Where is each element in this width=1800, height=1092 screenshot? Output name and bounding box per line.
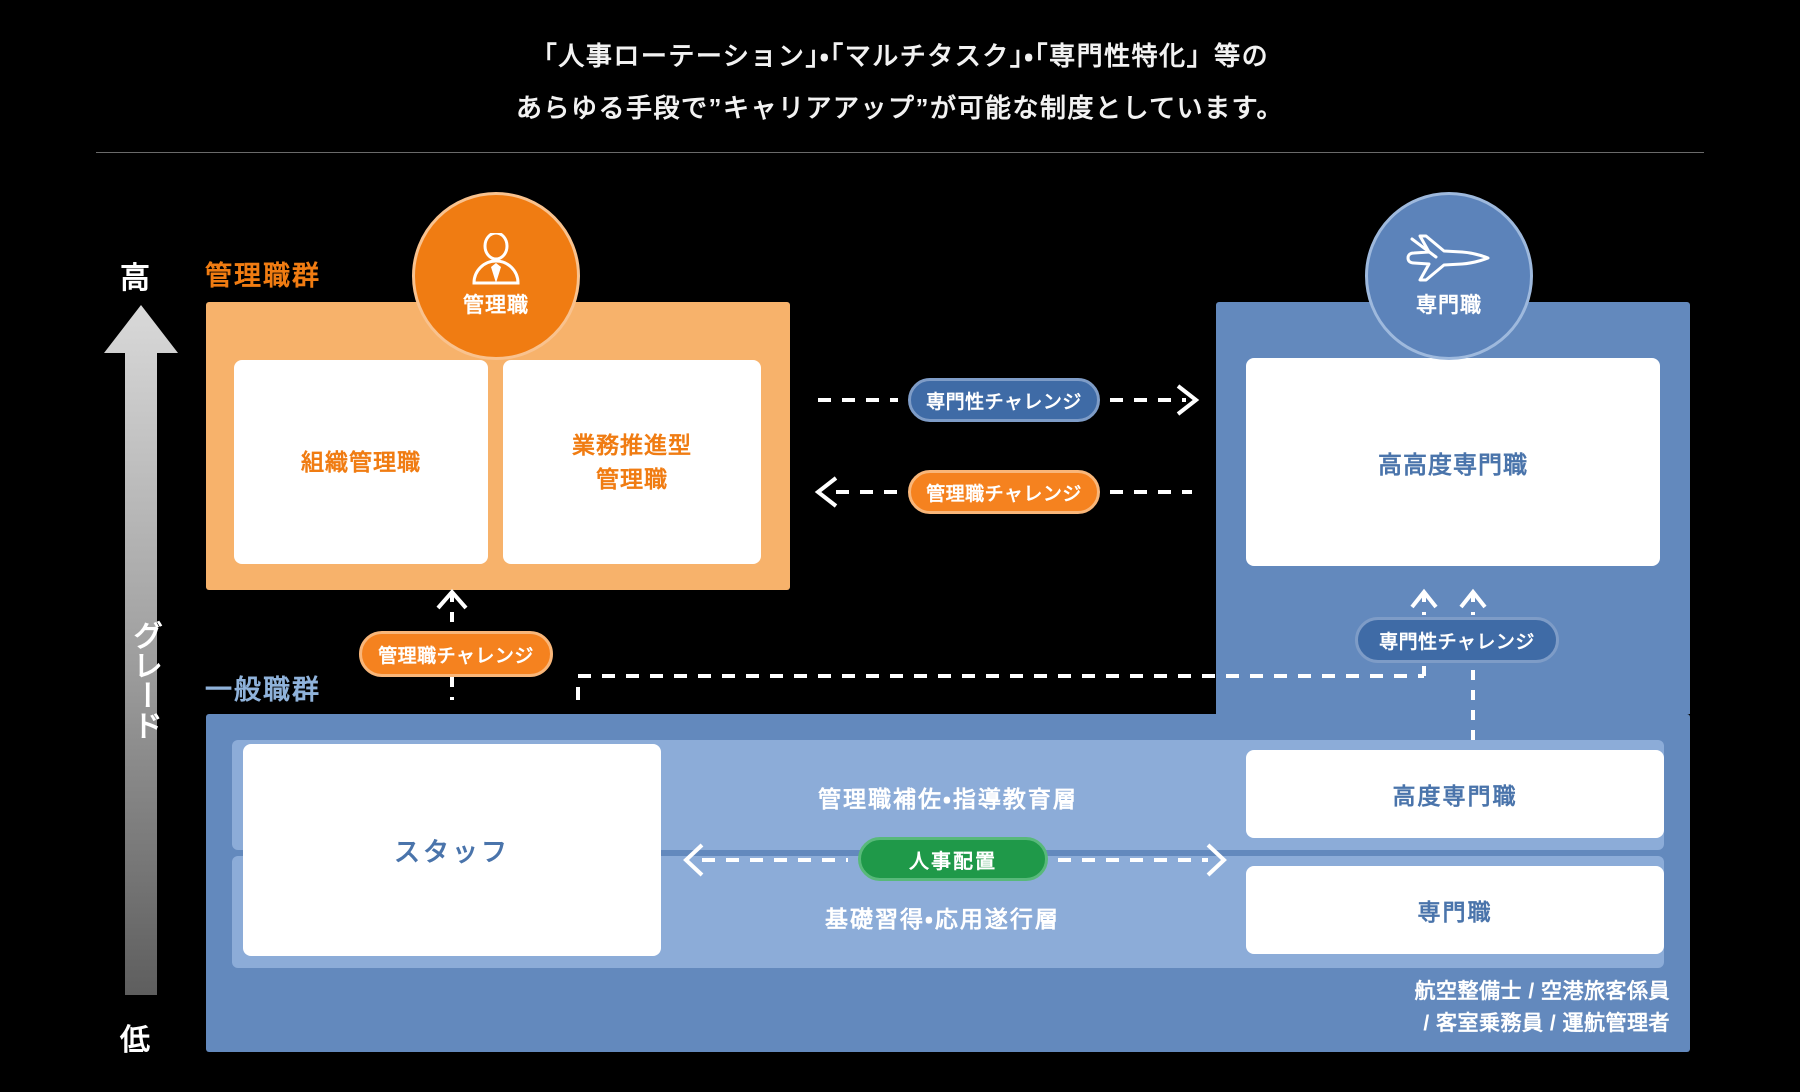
- diagram-canvas: 「人事ローテーション」・「マルチタスク」・「専門性特化」等の あらゆる手段で”キ…: [0, 0, 1800, 1092]
- axis-label-high: 高: [120, 253, 152, 297]
- card-super-advanced-specialist[interactable]: 高高度専門職: [1246, 358, 1660, 566]
- caption-management-group: 管理職群: [205, 254, 321, 293]
- layer-label-foundation: 基礎習得・応用遂行層: [825, 900, 1060, 934]
- header-line-1: 「人事ローテーション」・「マルチタスク」・「専門性特化」等の: [0, 30, 1800, 82]
- card-staff[interactable]: スタッフ: [243, 744, 661, 956]
- person-icon: [469, 233, 523, 285]
- role-circle-specialist-label: 専門職: [1416, 289, 1482, 319]
- caption-general-group: 一般職群: [205, 668, 321, 707]
- airplane-icon: [1406, 233, 1492, 285]
- role-circle-manager[interactable]: 管理職: [412, 192, 580, 360]
- pill-specialty-challenge-upper[interactable]: 専門性チャレンジ: [908, 378, 1100, 422]
- header-text: 「人事ローテーション」・「マルチタスク」・「専門性特化」等の あらゆる手段で”キ…: [0, 30, 1800, 134]
- header-line-2: あらゆる手段で”キャリアアップ”が可能な制度としています。: [0, 82, 1800, 134]
- header-divider: [96, 152, 1704, 153]
- card-business-promotion-manager[interactable]: 業務推進型 管理職: [503, 360, 761, 564]
- axis-label-low: 低: [120, 1015, 152, 1059]
- card-line-2: 管理職: [572, 462, 692, 496]
- card-line-1: 業務推進型: [572, 428, 692, 462]
- pill-hr-placement[interactable]: 人事配置: [858, 837, 1048, 881]
- role-circle-specialist[interactable]: 専門職: [1365, 192, 1533, 360]
- pill-management-challenge-upper[interactable]: 管理職チャレンジ: [908, 470, 1100, 514]
- card-specialist[interactable]: 専門職: [1246, 866, 1664, 954]
- card-organization-manager[interactable]: 組織管理職: [234, 360, 488, 564]
- pill-specialty-challenge-lower[interactable]: 専門性チャレンジ: [1355, 617, 1559, 663]
- pill-management-challenge-lower[interactable]: 管理職チャレンジ: [359, 631, 553, 677]
- specialist-job-examples: 航空整備士 / 空港旅客係員 / 客室乗務員 / 運航管理者: [1200, 976, 1670, 1040]
- layer-label-assistant-manager: 管理職補佐・指導教育層: [818, 780, 1078, 814]
- axis-label-grade: グレード: [124, 620, 160, 740]
- job-examples-line-1: 航空整備士 / 空港旅客係員: [1200, 976, 1670, 1008]
- role-circle-manager-label: 管理職: [463, 289, 529, 319]
- job-examples-line-2: / 客室乗務員 / 運航管理者: [1200, 1008, 1670, 1040]
- axis-grade-text: グレード: [124, 620, 164, 740]
- card-advanced-specialist[interactable]: 高度専門職: [1246, 750, 1664, 838]
